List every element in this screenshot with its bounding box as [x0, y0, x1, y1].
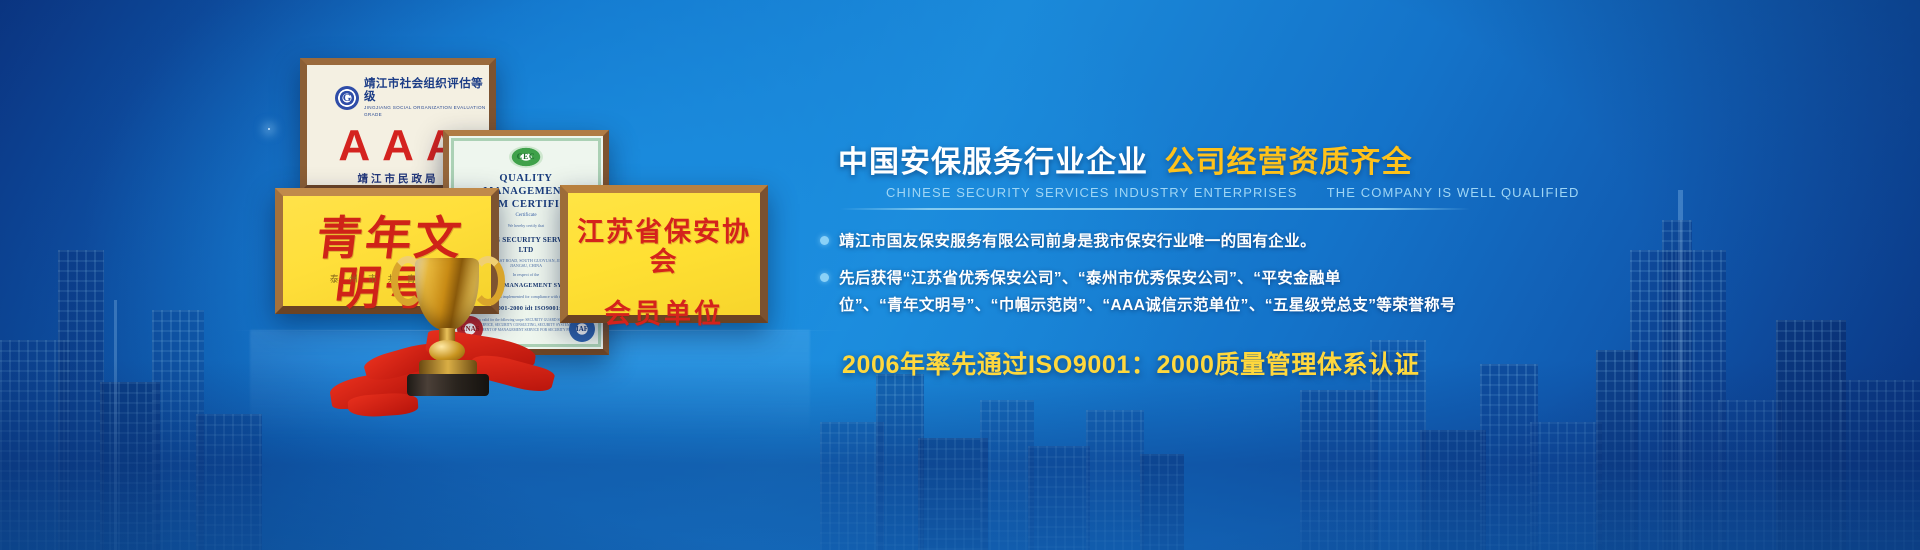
cec-seal-icon: [509, 146, 543, 168]
bullet-dot-icon: [820, 273, 829, 282]
list-item: 先后获得“江苏省优秀保安公司”、“泰州市优秀保安公司”、“平安金融单 位”、“青…: [820, 265, 1920, 319]
bullet-dot-icon: [820, 236, 829, 245]
banner-text-block: 中国安保服务行业企业 公司经营资质齐全 CHINESE SECURITY SER…: [820, 0, 1920, 550]
iso-highlight-text: 2006年率先通过ISO9001：2000质量管理体系认证: [842, 348, 1419, 382]
trophy-cup: [415, 258, 479, 330]
bullet-text-2: 先后获得“江苏省优秀保安公司”、“泰州市优秀保安公司”、“平安金融单 位”、“青…: [839, 265, 1456, 319]
banner-headline: 中国安保服务行业企业 公司经营资质齐全: [838, 146, 1412, 180]
aaa-certificate-header: 靖江市社会组织评估等级 JINGJIANG SOCIAL ORGANIZATIO…: [335, 78, 489, 118]
header-divider: [840, 208, 1470, 210]
golden-trophy: [393, 240, 503, 405]
jiangsu-plaque-line1: 江苏省保安协会: [568, 217, 760, 277]
banner-subtitle-english: CHINESE SECURITY SERVICES INDUSTRY ENTER…: [886, 184, 1579, 202]
aaa-org-name-cn: 靖江市社会组织评估等级: [364, 78, 489, 104]
certifications-banner: 靖江市社会组织评估等级 JINGJIANG SOCIAL ORGANIZATIO…: [0, 0, 1920, 550]
subtitle-english-1: CHINESE SECURITY SERVICES INDUSTRY ENTER…: [886, 185, 1298, 200]
bullet-text-2-line2: 位”、“青年文明号”、“巾帼示范岗”、“AAA诚信示范单位”、“五星级党总支”等…: [839, 292, 1456, 319]
headline-primary: 中国安保服务行业企业: [838, 146, 1148, 179]
award-plaque-group: 靖江市社会组织评估等级 JINGJIANG SOCIAL ORGANIZATIO…: [0, 0, 820, 550]
trophy-knob: [429, 340, 465, 362]
subtitle-english-2: THE COMPANY IS WELL QUALIFIED: [1327, 185, 1580, 200]
banner-bullet-list: 靖江市国友保安服务有限公司前身是我市保安行业唯一的国有企业。 先后获得“江苏省优…: [820, 228, 1920, 329]
bullet-text-2-line1: 先后获得“江苏省优秀保安公司”、“泰州市优秀保安公司”、“平安金融单: [839, 270, 1341, 287]
trophy-base-lower: [407, 374, 489, 396]
aaa-org-name-en: JINGJIANG SOCIAL ORGANIZATION EVALUATION…: [364, 104, 489, 118]
headline-secondary: 公司经营资质齐全: [1164, 146, 1412, 179]
jiangsu-plaque-line2: 会员单位: [568, 299, 760, 329]
civil-affairs-seal-icon: [335, 86, 359, 110]
list-item: 靖江市国友保安服务有限公司前身是我市保安行业唯一的国有企业。: [820, 228, 1920, 255]
jiangsu-security-association-plaque[interactable]: 江苏省保安协会 会员单位: [560, 185, 768, 323]
bullet-text-1: 靖江市国友保安服务有限公司前身是我市保安行业唯一的国有企业。: [839, 228, 1316, 255]
